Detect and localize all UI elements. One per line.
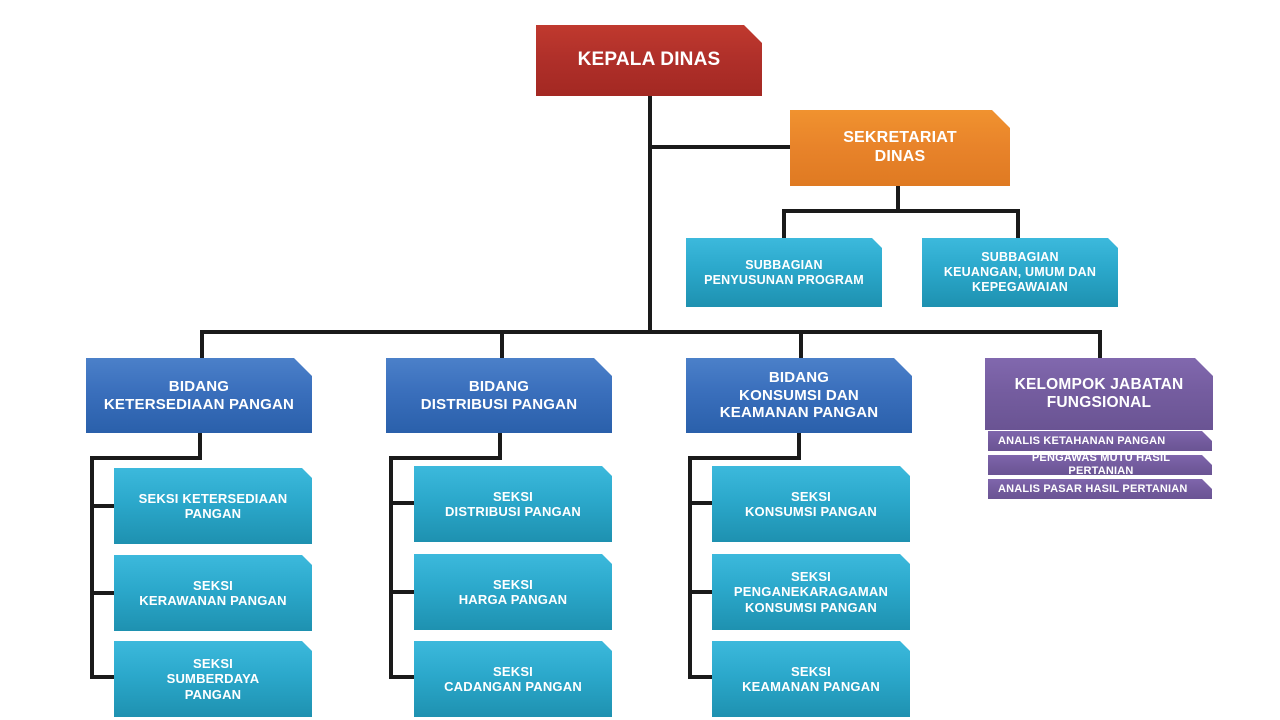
node-seksi-penganekaragaman-konsumsi-pangan-label: SEKSI PENGANEKARAGAMAN KONSUMSI PANGAN [734,569,888,615]
node-sekretariat-dinas-label: SEKRETARIAT DINAS [843,129,957,167]
node-subbagian-keuangan-umum-kepegawaian[interactable]: SUBBAGIAN KEUANGAN, UMUM DAN KEPEGAWAIAN [922,238,1118,307]
node-seksi-cadangan-pangan[interactable]: SEKSI CADANGAN PANGAN [414,641,612,717]
node-seksi-harga-pangan[interactable]: SEKSI HARGA PANGAN [414,554,612,630]
node-seksi-sumberdaya-pangan-label: SEKSI SUMBERDAYA PANGAN [167,656,260,702]
node-seksi-konsumsi-pangan[interactable]: SEKSI KONSUMSI PANGAN [712,466,910,542]
connector-col1-elbow [90,456,202,460]
node-seksi-kerawanan-pangan[interactable]: SEKSI KERAWANAN PANGAN [114,555,312,631]
node-bidang-distribusi-pangan-label: BIDANG DISTRIBUSI PANGAN [421,378,577,413]
connector-col2-elbow [389,456,502,460]
node-seksi-distribusi-pangan[interactable]: SEKSI DISTRIBUSI PANGAN [414,466,612,542]
node-analis-ketahanan-pangan-label: ANALIS KETAHANAN PANGAN [998,435,1165,448]
connector-secretariat-stub [896,186,900,211]
node-kepala-dinas[interactable]: KEPALA DINAS [536,25,762,96]
node-analis-pasar-hasil-pertanian-label: ANALIS PASAR HASIL PERTANIAN [998,483,1188,496]
node-seksi-keamanan-pangan[interactable]: SEKSI KEAMANAN PANGAN [712,641,910,717]
node-analis-ketahanan-pangan[interactable]: ANALIS KETAHANAN PANGAN [988,431,1212,451]
node-pengawas-mutu-hasil-pertanian[interactable]: PENGAWAS MUTU HASIL PERTANIAN [988,455,1212,475]
node-seksi-keamanan-pangan-label: SEKSI KEAMANAN PANGAN [742,664,880,695]
node-subbagian-penyusunan-program-label: SUBBAGIAN PENYUSUNAN PROGRAM [704,258,864,288]
node-bidang-distribusi-pangan[interactable]: BIDANG DISTRIBUSI PANGAN [386,358,612,433]
node-subbagian-keuangan-umum-kepegawaian-label: SUBBAGIAN KEUANGAN, UMUM DAN KEPEGAWAIAN [944,250,1096,294]
connector-secretariat-bus [782,209,1020,213]
connector-subsection-drop-1 [782,209,786,239]
connector-col1-rail [90,456,94,678]
connector-col3-rail [688,456,692,678]
node-kelompok-jabatan-fungsional-label: KELOMPOK JABATAN FUNGSIONAL [1015,376,1184,413]
node-seksi-ketersediaan-pangan[interactable]: SEKSI KETERSEDIAAN PANGAN [114,468,312,544]
node-bidang-ketersediaan-pangan[interactable]: BIDANG KETERSEDIAAN PANGAN [86,358,312,433]
node-bidang-konsumsi-keamanan-pangan-label: BIDANG KONSUMSI DAN KEAMANAN PANGAN [720,369,879,422]
connector-subsection-drop-2 [1016,209,1020,239]
node-seksi-ketersediaan-pangan-label: SEKSI KETERSEDIAAN PANGAN [139,491,288,522]
connector-functional-group-drop [1098,330,1102,358]
connector-col3-elbow [688,456,801,460]
node-bidang-ketersediaan-pangan-label: BIDANG KETERSEDIAAN PANGAN [104,378,294,413]
node-kepala-dinas-label: KEPALA DINAS [578,49,721,71]
node-subbagian-penyusunan-program[interactable]: SUBBAGIAN PENYUSUNAN PROGRAM [686,238,882,307]
connector-root-trunk [648,94,652,332]
connector-division-drop-2 [500,330,504,358]
connector-division-drop-3 [799,330,803,358]
node-seksi-cadangan-pangan-label: SEKSI CADANGAN PANGAN [444,664,582,695]
node-sekretariat-dinas[interactable]: SEKRETARIAT DINAS [790,110,1010,186]
node-pengawas-mutu-hasil-pertanian-label: PENGAWAS MUTU HASIL PERTANIAN [998,452,1204,478]
connector-division-drop-1 [200,330,204,358]
node-seksi-konsumsi-pangan-label: SEKSI KONSUMSI PANGAN [745,489,877,520]
node-seksi-harga-pangan-label: SEKSI HARGA PANGAN [459,577,568,608]
org-chart: KEPALA DINAS SEKRETARIAT DINAS SUBBAGIAN… [0,0,1280,720]
node-bidang-konsumsi-keamanan-pangan[interactable]: BIDANG KONSUMSI DAN KEAMANAN PANGAN [686,358,912,433]
node-seksi-sumberdaya-pangan[interactable]: SEKSI SUMBERDAYA PANGAN [114,641,312,717]
connector-root-to-secretariat [648,145,794,149]
node-kelompok-jabatan-fungsional[interactable]: KELOMPOK JABATAN FUNGSIONAL [985,358,1213,430]
node-seksi-distribusi-pangan-label: SEKSI DISTRIBUSI PANGAN [445,489,581,520]
connector-main-bus [200,330,1102,334]
node-analis-pasar-hasil-pertanian[interactable]: ANALIS PASAR HASIL PERTANIAN [988,479,1212,499]
node-seksi-kerawanan-pangan-label: SEKSI KERAWANAN PANGAN [139,578,286,609]
node-seksi-penganekaragaman-konsumsi-pangan[interactable]: SEKSI PENGANEKARAGAMAN KONSUMSI PANGAN [712,554,910,630]
connector-col2-rail [389,456,393,678]
